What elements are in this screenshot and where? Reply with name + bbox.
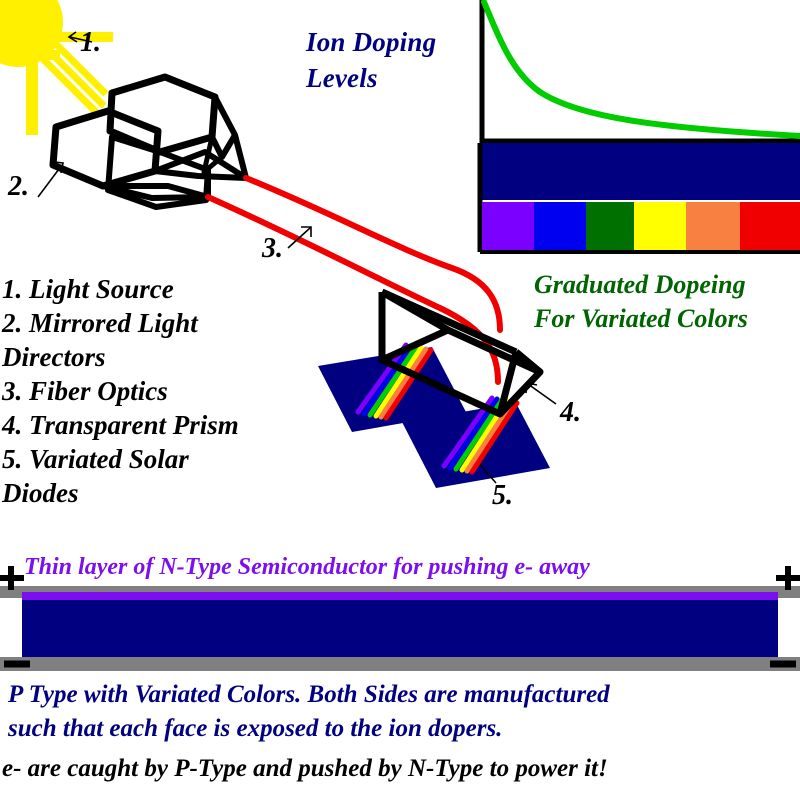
ion-doping-chart <box>480 0 800 252</box>
numbered-legend-list: 1. Light Source 2. Mirrored Light Direct… <box>2 272 302 510</box>
band-blue <box>534 202 586 250</box>
p-type-layer <box>22 600 778 658</box>
band-green <box>586 202 634 250</box>
graduated-doping-caption: Graduated Dopeing For Variated Colors <box>534 268 800 336</box>
callout-label-1: 1. <box>80 27 101 59</box>
bottom-contact-bar <box>0 657 800 671</box>
pv-cell-cross-section <box>0 566 800 671</box>
chart-color-bands <box>482 202 800 250</box>
n-type-layer <box>22 592 778 601</box>
diagram-canvas: Ion Doping Levels Graduated Dopeing For … <box>0 0 800 800</box>
callout-label-5: 5. <box>492 480 513 512</box>
ion-doping-title: Ion Doping Levels <box>306 24 496 96</box>
p-type-layer-label: P Type with Variated Colors. Both Sides … <box>8 678 798 746</box>
band-violet <box>482 202 534 250</box>
chart-substrate-block <box>482 143 800 200</box>
band-yellow <box>634 202 686 250</box>
callout-label-4: 4. <box>560 397 581 429</box>
n-type-layer-label: Thin layer of N-Type Semiconductor for p… <box>24 553 784 581</box>
callout-4-arrow <box>526 383 556 404</box>
callout-label-2: 2. <box>8 171 29 203</box>
band-orange <box>686 202 740 250</box>
band-red <box>740 202 800 250</box>
doping-decay-curve <box>484 2 800 136</box>
callout-label-3: 3. <box>262 233 283 265</box>
electron-flow-label: e- are caught by P-Type and pushed by N-… <box>2 753 798 785</box>
